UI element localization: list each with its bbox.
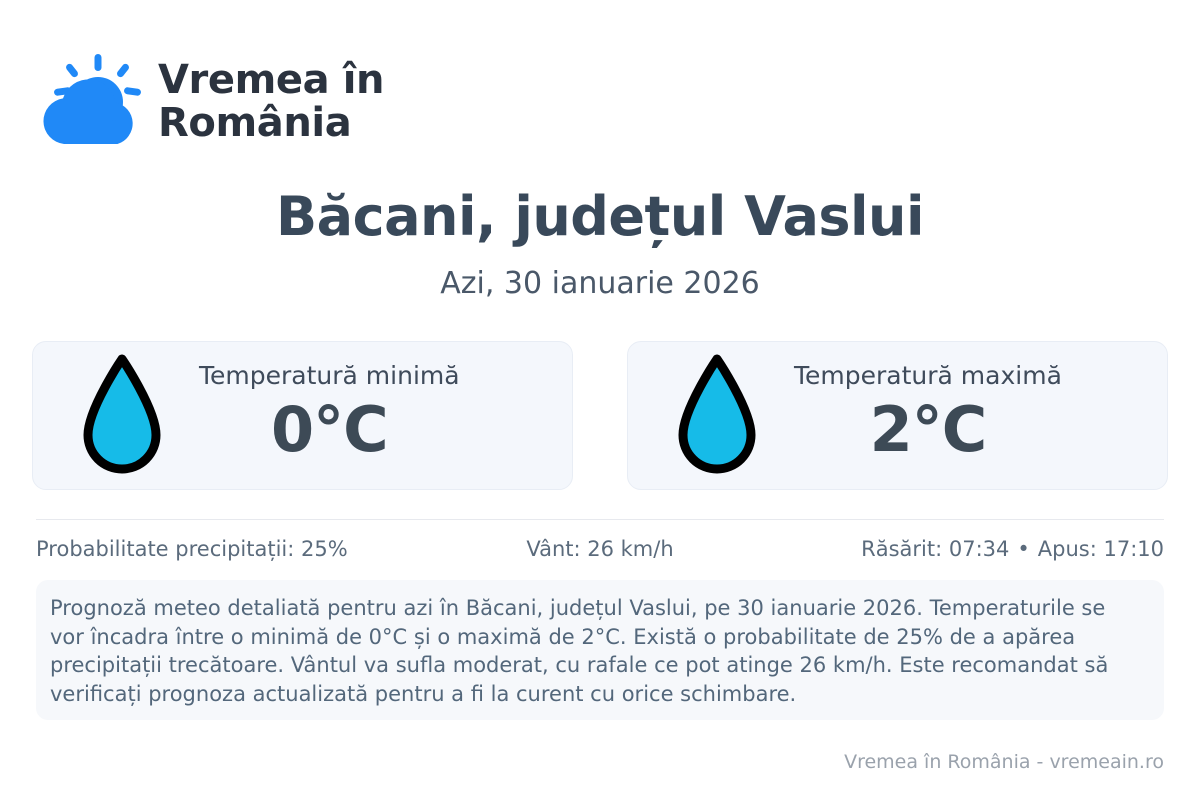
card-max-body: Temperatură maximă 2°C [794, 361, 1062, 466]
card-max-value: 2°C [870, 393, 987, 466]
water-drop-icon [674, 353, 760, 478]
card-min-value: 0°C [271, 393, 388, 466]
card-max-label: Temperatură maximă [794, 361, 1062, 391]
stats-divider [36, 519, 1164, 520]
sun-behind-cloud-icon [36, 52, 142, 152]
water-drop-icon [79, 353, 165, 478]
brand-logo[interactable]: Vremea în România [36, 52, 384, 152]
card-temperature-max: Temperatură maximă 2°C [627, 341, 1168, 490]
weather-page: Vremea în România Băcani, județul Vaslui… [0, 0, 1200, 800]
card-min-label: Temperatură minimă [199, 361, 460, 391]
footer-credit: Vremea în România - vremeain.ro [0, 751, 1164, 773]
stat-separator: • [1009, 537, 1037, 561]
card-temperature-min: Temperatură minimă 0°C [32, 341, 573, 490]
stat-sunset: Apus: 17:10 [1038, 537, 1164, 561]
stat-precipitation: Probabilitate precipitații: 25% [36, 537, 412, 561]
card-min-body: Temperatură minimă 0°C [199, 361, 460, 466]
brand-name: Vremea în România [158, 59, 384, 145]
page-title: Băcani, județul Vaslui [0, 185, 1200, 248]
stat-wind: Vânt: 26 km/h [412, 537, 788, 561]
stat-sunrise: Răsărit: 07:34 [861, 537, 1009, 561]
stat-sun: Răsărit: 07:34•Apus: 17:10 [788, 537, 1164, 561]
temperature-cards: Temperatură minimă 0°C Temperatură maxim… [32, 341, 1168, 490]
page-subtitle: Azi, 30 ianuarie 2026 [0, 266, 1200, 301]
stats-row: Probabilitate precipitații: 25% Vânt: 26… [36, 537, 1164, 561]
description-text: Prognoză meteo detaliată pentru azi în B… [50, 594, 1140, 708]
